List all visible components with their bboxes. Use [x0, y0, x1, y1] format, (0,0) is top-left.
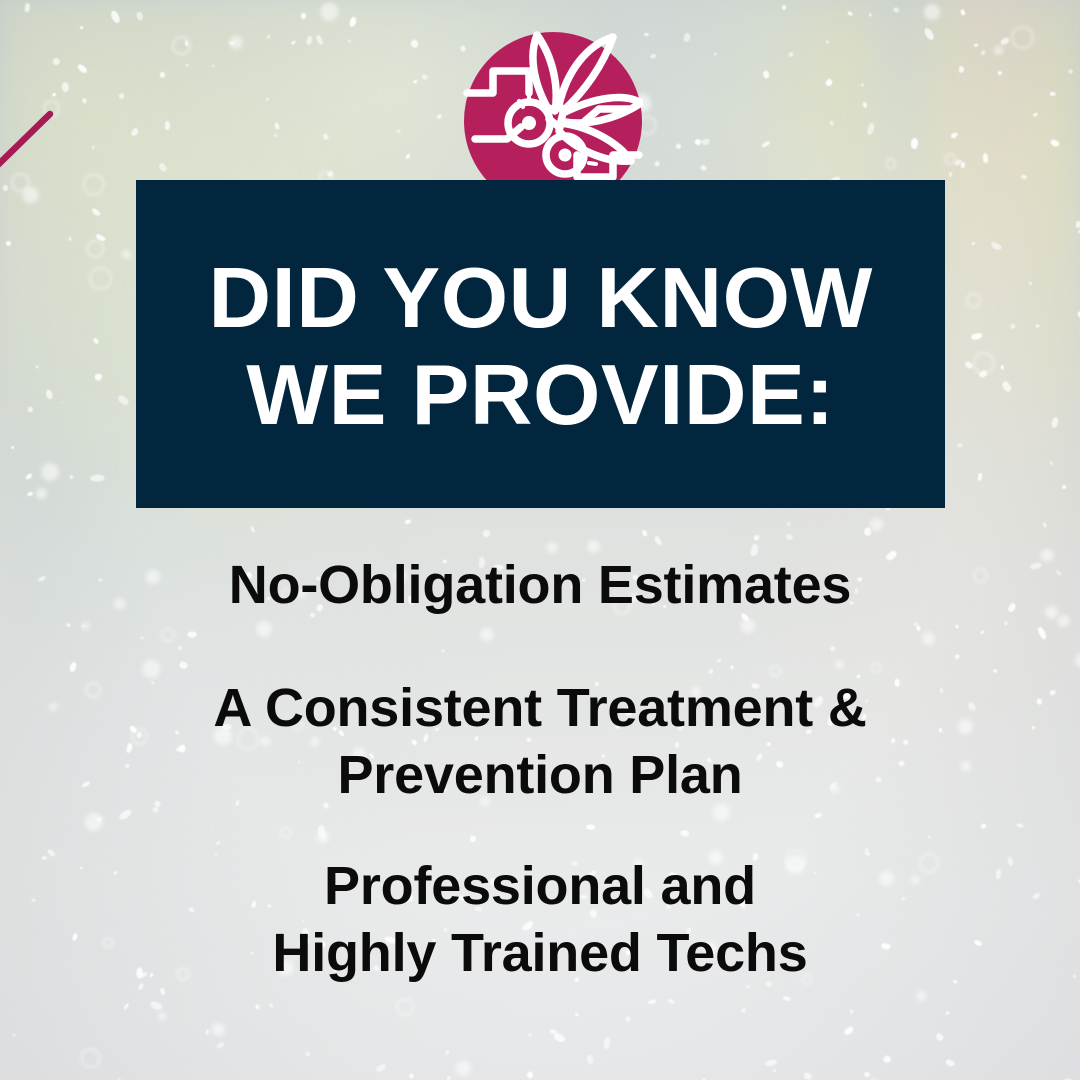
promo-poster: DID YOU KNOW WE PROVIDE: No-Obligation E…: [0, 0, 1080, 1080]
benefit-item-treatment-plan: A Consistent Treatment & Prevention Plan: [213, 675, 866, 809]
benefit-item-trained-techs: Professional and Highly Trained Techs: [272, 853, 807, 987]
headline-banner: DID YOU KNOW WE PROVIDE:: [136, 180, 945, 508]
mosquito-proboscis-icon: [0, 108, 54, 200]
benefits-list: No-Obligation Estimates A Consistent Tre…: [0, 552, 1080, 987]
headline-line-2: WE PROVIDE:: [246, 348, 834, 445]
headline-line-1: DID YOU KNOW: [208, 251, 872, 348]
benefit-item-estimates: No-Obligation Estimates: [229, 552, 851, 619]
